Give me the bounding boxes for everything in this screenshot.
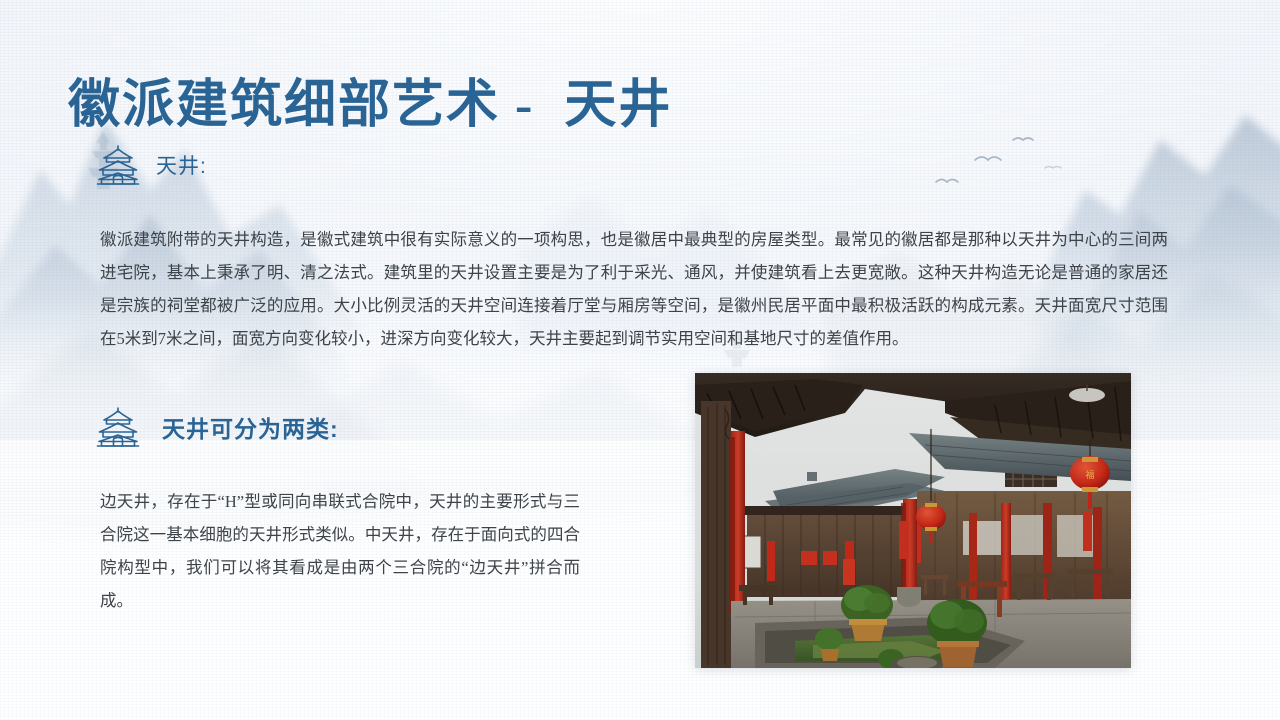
courtyard-photo: 福 (695, 373, 1131, 668)
section-heading-categories: 天井可分为两类: (96, 406, 339, 448)
section-label-categories: 天井可分为两类: (162, 410, 339, 444)
section-heading-tianjing: 天井: (96, 144, 207, 186)
paragraph-tianjing-description: 徽派建筑附带的天井构造，是徽式建筑中很有实际意义的一项构思，也是徽居中最典型的房… (100, 223, 1168, 355)
paragraph-tianjing-categories: 边天井，存在于“H”型或同向串联式合院中，天井的主要形式与三合院这一基本细胞的天… (100, 485, 580, 617)
pagoda-icon (96, 144, 140, 186)
slide-canvas: 徽派建筑细部艺术 - 天井 天井: 徽派建筑附带的天井构造，是徽式建筑中很有实际… (0, 0, 1280, 720)
pagoda-icon (96, 406, 140, 448)
section-label-tianjing: 天井: (156, 150, 207, 180)
page-title: 徽派建筑细部艺术 - 天井 (68, 76, 672, 136)
